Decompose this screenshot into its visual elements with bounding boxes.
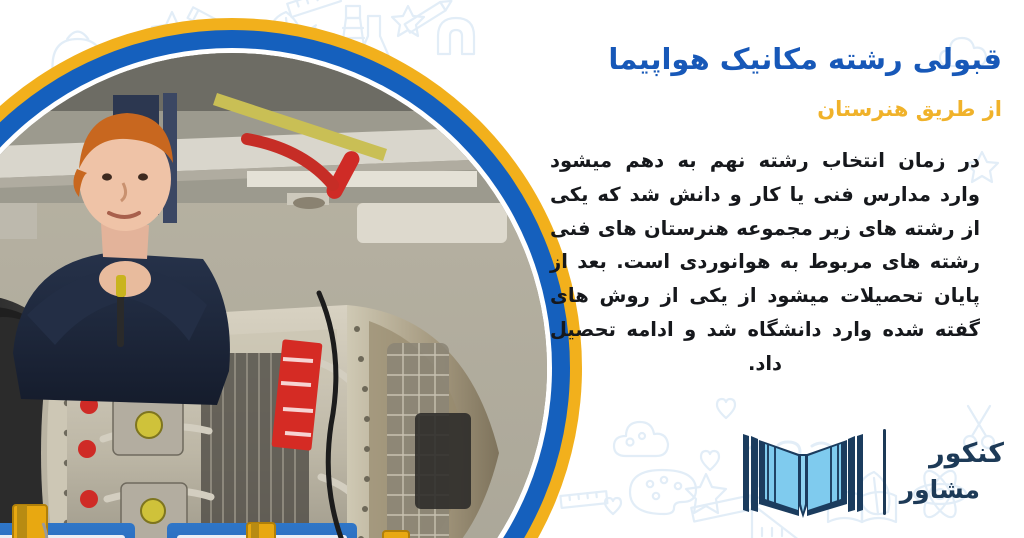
heart-icon <box>605 498 621 514</box>
text-column: قبولی رشته مکانیک هواپیما از طریق هنرستا… <box>550 22 1002 400</box>
photo-medallion <box>0 18 582 538</box>
brand-name-top: کنکور <box>929 440 1004 467</box>
brand-name-bottom: مشاور <box>900 477 1004 502</box>
body-paragraph: در زمان انتخاب رشته نهم به دهم میشود وار… <box>550 144 980 380</box>
ruler-icon <box>287 0 341 17</box>
page-title: قبولی رشته مکانیک هواپیما <box>550 41 1002 77</box>
brand-divider <box>883 429 886 515</box>
heart-icon <box>701 451 719 470</box>
cloud-icon <box>614 422 668 456</box>
paint-palette-icon <box>630 470 696 514</box>
brand-wordmark: کنکور مشاور <box>900 440 1004 504</box>
poster-root: قبولی رشته مکانیک هواپیما از طریق هنرستا… <box>0 0 1024 538</box>
open-book-pencil-logo-icon <box>737 420 869 524</box>
page-subtitle: از طریق هنرستان <box>550 97 1002 122</box>
heart-icon <box>717 399 735 418</box>
brand-lockup[interactable]: کنکور مشاور <box>737 420 1004 524</box>
star-icon <box>686 474 726 513</box>
hero-photo <box>0 53 547 538</box>
